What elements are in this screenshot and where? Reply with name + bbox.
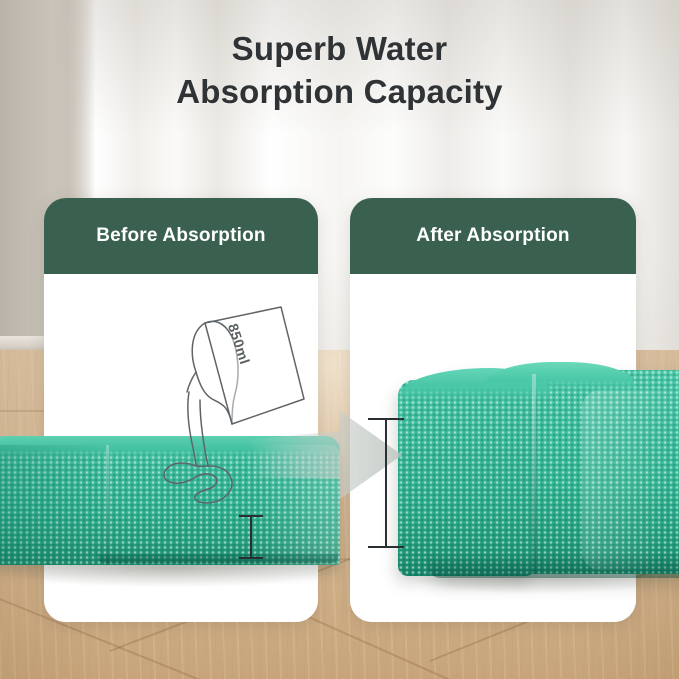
water-pour-illustration bbox=[0, 0, 679, 679]
product-infographic: Superb Water Absorption Capacity Before … bbox=[0, 0, 679, 679]
measuring-cup-icon bbox=[205, 307, 304, 424]
marker-cap-bottom bbox=[368, 546, 404, 548]
height-marker-before bbox=[239, 515, 263, 559]
marker-cap-bottom bbox=[239, 557, 263, 559]
marker-stem bbox=[250, 515, 252, 559]
marker-stem bbox=[385, 418, 387, 548]
height-marker-after bbox=[368, 418, 404, 548]
